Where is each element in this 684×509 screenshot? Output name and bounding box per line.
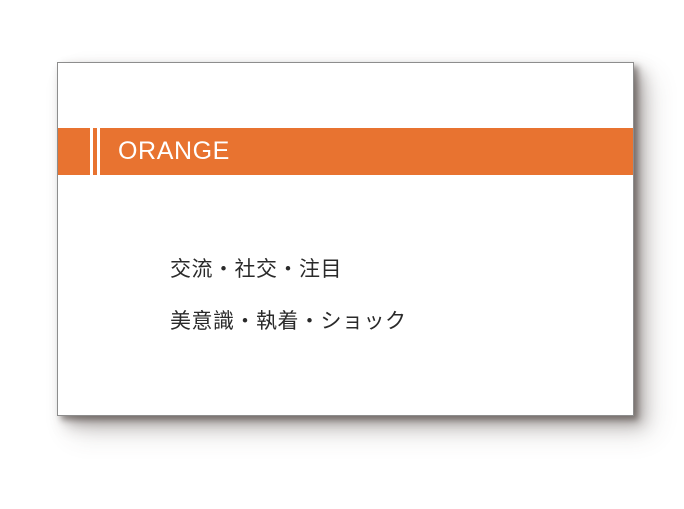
slide-body: 交流・社交・注目 美意識・執着・ショック xyxy=(170,243,600,347)
slide-title-banner: ORANGE xyxy=(58,128,633,175)
body-line-1: 交流・社交・注目 xyxy=(170,243,600,295)
banner-accent-rule-2 xyxy=(97,128,100,175)
canvas: ORANGE 交流・社交・注目 美意識・執着・ショック xyxy=(0,0,684,509)
banner-accent-rule-1 xyxy=(90,128,93,175)
slide-card[interactable]: ORANGE 交流・社交・注目 美意識・執着・ショック xyxy=(57,62,634,416)
slide-title: ORANGE xyxy=(118,128,230,175)
body-line-2: 美意識・執着・ショック xyxy=(170,295,600,347)
